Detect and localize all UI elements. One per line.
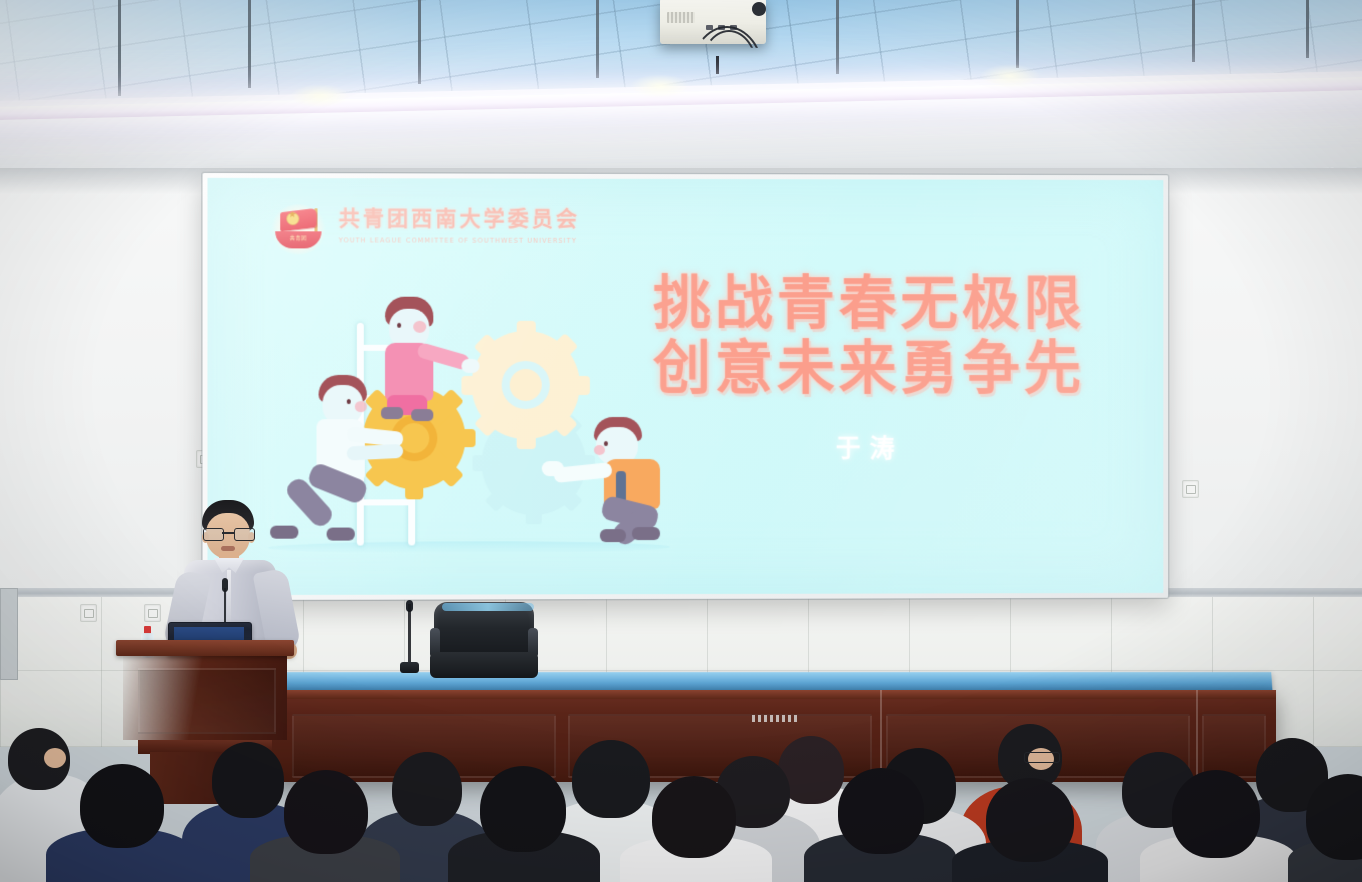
wall-outlet[interactable]	[1182, 480, 1199, 498]
audience-face	[44, 748, 66, 768]
logo-chinese-name: 共青团西南大学委员会	[339, 202, 580, 233]
ceiling-rod	[418, 0, 421, 84]
wall-utility-box	[0, 588, 18, 680]
wall-outlet[interactable]	[80, 604, 97, 622]
audience-head	[212, 742, 284, 818]
ceiling-rod	[1016, 0, 1019, 68]
shoe	[600, 529, 626, 542]
cheek	[413, 321, 426, 333]
ceiling-rod	[1306, 0, 1309, 58]
audience-head	[572, 740, 650, 818]
slide-headline: 挑战青春无极限 创意未来勇争先	[610, 271, 1128, 401]
youth-league-logo: 共青团 共青团西南大学委员会 YOUTH LEAGUE COMMITTEE OF…	[270, 202, 592, 259]
shoe	[327, 528, 355, 541]
chair-seat	[430, 652, 538, 678]
presentation-slide: 共青团 共青团西南大学委员会 YOUTH LEAGUE COMMITTEE OF…	[207, 178, 1163, 595]
ceiling-rod	[836, 0, 839, 74]
lamp-glow	[630, 74, 690, 98]
microphone-stem	[408, 604, 411, 664]
projector-vent	[667, 12, 695, 23]
audience-head	[986, 778, 1074, 862]
podium-top	[116, 640, 294, 656]
projector-cable-knob	[752, 2, 766, 16]
audience-head	[838, 768, 924, 854]
desk-microphone[interactable]	[406, 604, 412, 674]
desk-edge	[268, 690, 1276, 699]
audience-head	[392, 752, 462, 826]
lamp-glow	[290, 84, 350, 108]
lamp-glow	[980, 64, 1040, 88]
ceiling-rod	[118, 0, 121, 96]
eye	[604, 441, 608, 446]
seated-audience	[0, 700, 1362, 882]
eye	[347, 399, 351, 404]
logo-text-block: 共青团西南大学委员会 YOUTH LEAGUE COMMITTEE OF SOU…	[339, 202, 580, 245]
lecture-hall-photo: 共青团 共青团西南大学委员会 YOUTH LEAGUE COMMITTEE OF…	[0, 0, 1362, 882]
wall-outlet[interactable]	[144, 604, 161, 622]
shoe	[632, 527, 660, 540]
audience-head	[1172, 770, 1260, 858]
shoe	[411, 409, 433, 421]
executive-chair[interactable]	[430, 602, 538, 680]
cheek	[355, 401, 367, 412]
mouth	[221, 546, 235, 551]
arm	[346, 444, 403, 461]
audience-head	[80, 764, 164, 848]
audience-head	[652, 776, 736, 858]
cheek	[594, 445, 605, 455]
headline-line-1: 挑战青春无极限	[610, 271, 1128, 336]
youth-league-flag-emblem-icon: 共青团	[270, 202, 326, 256]
headline-line-2: 创意未来勇争先	[610, 336, 1128, 401]
hand	[461, 359, 479, 373]
audience-head	[480, 766, 566, 852]
ceiling-rod	[248, 0, 251, 88]
chair-back	[434, 602, 534, 658]
ceiling-rod	[1192, 0, 1195, 62]
logo-english-name: YOUTH LEAGUE COMMITTEE OF SOUTHWEST UNIV…	[339, 236, 580, 244]
microphone-base	[400, 662, 419, 673]
logo-ribbon-text: 共青团	[275, 234, 321, 241]
audience-eyeglasses-icon	[1024, 752, 1060, 763]
eyeglasses-icon	[203, 528, 253, 540]
audience-head	[284, 770, 368, 854]
projection-screen-frame: 共青团 共青团西南大学委员会 YOUTH LEAGUE COMMITTEE OF…	[202, 173, 1168, 600]
gold-star-icon	[287, 213, 298, 224]
ceiling-rod	[596, 0, 599, 78]
person-reaching	[550, 417, 680, 549]
slide-presenter-name: 于涛	[610, 429, 1128, 465]
hand	[542, 461, 564, 476]
eye	[397, 323, 401, 328]
projector-cable-drop	[716, 56, 719, 74]
